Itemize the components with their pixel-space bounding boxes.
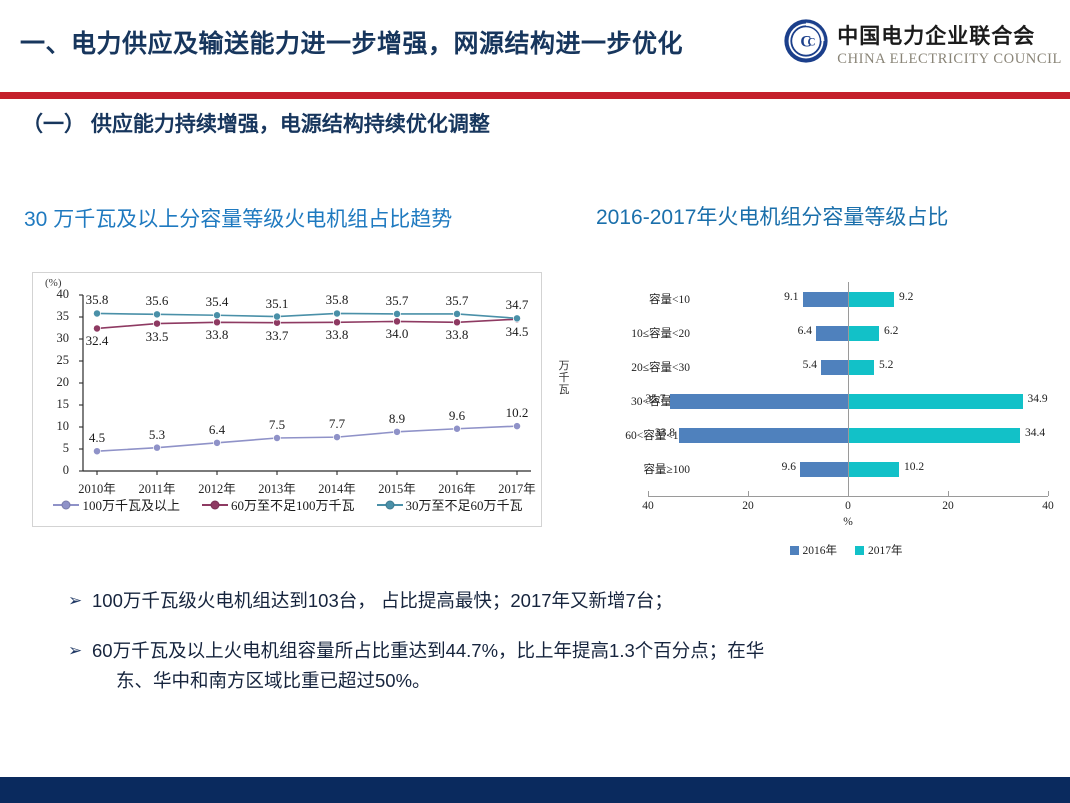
tornado-chart-row: 30<容量<6035.734.9 (556, 390, 1066, 413)
tornado-bar-2016 (679, 428, 848, 443)
bullet-text-line1: 60万千瓦及以上火电机组容量所占比重达到44.7%，比上年提高1.3个百分点；在… (92, 640, 764, 661)
line-chart-data-label: 35.1 (256, 296, 298, 312)
line-chart-legend-label: 30万至不足60万千瓦 (406, 495, 523, 514)
tornado-bar-2017 (848, 394, 1023, 409)
line-chart-legend-label: 100万千瓦及以上 (82, 495, 180, 514)
tornado-x-tick-label: 0 (828, 500, 868, 512)
line-chart-legend-item[interactable]: 30万至不足60万千瓦 (377, 495, 523, 514)
logo-chinese-name: 中国电力企业联合会 (837, 20, 1062, 50)
line-chart-data-label: 35.4 (196, 294, 238, 310)
capacity-share-trend-line-chart: (%) 05101520253035402010年2011年2012年2013年… (32, 272, 542, 527)
line-chart-data-label: 34.0 (376, 326, 418, 342)
left-chart-caption: 30 万千瓦及以上分容量等级火电机组占比趋势 (24, 203, 452, 233)
line-chart-data-label: 34.5 (496, 324, 538, 340)
tornado-value-2017: 10.2 (904, 461, 924, 473)
tornado-x-tick-mark (1048, 491, 1049, 496)
bullet-item: ➢100万千瓦级火电机组达到103台， 占比提高最快；2017年又新增7台； (68, 586, 1028, 616)
tornado-bar-2016 (800, 462, 848, 477)
tornado-x-tick-label: 20 (728, 500, 768, 512)
section-subheading: （一） 供应能力持续增强，电源结构持续优化调整 (22, 108, 490, 138)
line-chart-y-tick: 30 (43, 331, 69, 346)
line-chart-data-label: 34.7 (496, 297, 538, 313)
tornado-x-tick-label: 40 (1028, 500, 1068, 512)
line-chart-legend-label: 60万至不足100万千瓦 (231, 495, 355, 514)
legend-color-swatch-icon (855, 546, 864, 555)
tornado-bar-2017 (848, 360, 874, 375)
organization-logo: C C 中国电力企业联合会 CHINA ELECTRICITY COUNCIL (783, 18, 1062, 68)
tornado-x-tick-mark (848, 491, 849, 496)
tornado-chart-row: 容量<109.19.2 (556, 288, 1066, 311)
line-chart-data-label: 35.8 (76, 292, 118, 308)
tornado-bar-2017 (848, 428, 1020, 443)
tornado-value-2017: 9.2 (899, 291, 913, 303)
line-chart-legend-item[interactable]: 60万至不足100万千瓦 (202, 495, 355, 514)
bullet-list: ➢100万千瓦级火电机组达到103台， 占比提高最快；2017年又新增7台；➢6… (68, 586, 1028, 716)
line-chart-y-tick: 25 (43, 353, 69, 368)
tornado-bar-2017 (848, 292, 894, 307)
line-chart-y-tick: 5 (43, 441, 69, 456)
tornado-category-label: 20≤容量<30 (570, 359, 690, 375)
tornado-value-2016: 35.7 (622, 393, 666, 405)
bullet-text: 60万千瓦及以上火电机组容量所占比重达到44.7%，比上年提高1.3个百分点；在… (92, 636, 764, 696)
line-chart-data-label: 35.7 (376, 293, 418, 309)
tornado-legend-item[interactable]: 2016年 (790, 542, 838, 558)
tornado-x-tick-mark (948, 491, 949, 496)
line-chart-y-tick: 40 (43, 287, 69, 302)
tornado-x-tick-mark (748, 491, 749, 496)
tornado-legend-label: 2017年 (868, 542, 903, 558)
bullet-item: ➢60万千瓦及以上火电机组容量所占比重达到44.7%，比上年提高1.3个百分点；… (68, 636, 1028, 696)
line-chart-data-label: 10.2 (496, 405, 538, 421)
line-chart-y-tick: 0 (43, 463, 69, 478)
line-chart-y-tick: 10 (43, 419, 69, 434)
tornado-chart-row: 60<容量<10033.834.4 (556, 424, 1066, 447)
line-chart-data-label: 33.8 (316, 327, 358, 343)
line-chart-legend-item[interactable]: 100万千瓦及以上 (53, 495, 180, 514)
tornado-bar-2016 (803, 292, 849, 307)
line-chart-y-tick: 20 (43, 375, 69, 390)
line-chart-data-label: 33.7 (256, 328, 298, 344)
tornado-x-axis (648, 496, 1048, 497)
line-chart-data-label: 7.7 (316, 416, 358, 432)
capacity-grade-tornado-chart: 万千瓦 容量<109.19.210≤容量<206.46.220≤容量<305.4… (556, 278, 1066, 568)
line-chart-data-label: 33.8 (196, 327, 238, 343)
line-chart-y-tick: 35 (43, 309, 69, 324)
tornado-x-tick-mark (648, 491, 649, 496)
tornado-legend-label: 2016年 (803, 542, 838, 558)
bullet-text-line1: 100万千瓦级火电机组达到103台， 占比提高最快；2017年又新增7台； (92, 590, 673, 611)
tornado-bar-2016 (821, 360, 848, 375)
tornado-zero-line (848, 282, 849, 496)
tornado-category-label: 10≤容量<20 (570, 325, 690, 341)
tornado-category-label: 容量<10 (570, 291, 690, 307)
bullet-text-line2: 东、华中和南方区域比重已超过50%。 (116, 666, 764, 696)
line-chart-data-label: 35.6 (136, 293, 178, 309)
tornado-bar-2016 (670, 394, 849, 409)
tornado-value-2017: 6.2 (884, 325, 898, 337)
bullet-arrow-icon: ➢ (68, 636, 92, 666)
tornado-x-tick-label: 20 (928, 500, 968, 512)
legend-color-swatch-icon (790, 546, 799, 555)
legend-line-marker-icon (377, 504, 403, 506)
tornado-chart-row: 容量≥1009.610.2 (556, 458, 1066, 481)
line-chart-data-label: 32.4 (76, 333, 118, 349)
bullet-text: 100万千瓦级火电机组达到103台， 占比提高最快；2017年又新增7台； (92, 586, 673, 616)
line-chart-data-label: 33.5 (136, 329, 178, 345)
tornado-x-tick-label: 40 (628, 500, 668, 512)
tornado-chart-legend: 2016年2017年 (656, 542, 1036, 558)
line-chart-data-label: 35.7 (436, 293, 478, 309)
bullet-arrow-icon: ➢ (68, 586, 92, 616)
tornado-value-2017: 34.9 (1028, 393, 1048, 405)
cec-seal-icon: C C (783, 18, 829, 64)
tornado-value-2016: 9.6 (752, 461, 796, 473)
logo-english-name: CHINA ELECTRICITY COUNCIL (837, 51, 1062, 68)
tornado-value-2016: 5.4 (773, 359, 817, 371)
line-chart-data-label: 9.6 (436, 408, 478, 424)
line-chart-data-label: 5.3 (136, 427, 178, 443)
line-chart-data-label: 35.8 (316, 292, 358, 308)
slide-canvas: 一、电力供应及输送能力进一步增强，网源结构进一步优化 C C 中国电力企业联合会… (0, 0, 1070, 803)
tornado-value-2017: 34.4 (1025, 427, 1045, 439)
right-chart-caption: 2016-2017年火电机组分容量等级占比 (596, 201, 948, 231)
header-divider (0, 92, 1070, 99)
tornado-bar-2017 (848, 326, 879, 341)
tornado-value-2016: 33.8 (631, 427, 675, 439)
tornado-category-label: 容量≥100 (570, 461, 690, 477)
tornado-chart-row: 20≤容量<305.45.2 (556, 356, 1066, 379)
tornado-chart-row: 10≤容量<206.46.2 (556, 322, 1066, 345)
line-chart-data-label: 33.8 (436, 327, 478, 343)
tornado-x-axis-unit: % (828, 516, 868, 528)
tornado-bar-2017 (848, 462, 899, 477)
tornado-value-2017: 5.2 (879, 359, 893, 371)
svg-text:C: C (808, 37, 816, 49)
legend-line-marker-icon (202, 504, 228, 506)
line-chart-data-label: 6.4 (196, 422, 238, 438)
tornado-bar-2016 (816, 326, 848, 341)
line-chart-legend: 100万千瓦及以上60万至不足100万千瓦30万至不足60万千瓦 (33, 495, 543, 514)
legend-line-marker-icon (53, 504, 79, 506)
line-chart-y-tick: 15 (43, 397, 69, 412)
line-chart-data-label: 8.9 (376, 411, 418, 427)
page-title: 一、电力供应及输送能力进一步增强，网源结构进一步优化 (20, 24, 683, 60)
tornado-value-2016: 9.1 (755, 291, 799, 303)
footer-bar (0, 777, 1070, 803)
tornado-value-2016: 6.4 (768, 325, 812, 337)
line-chart-data-label: 4.5 (76, 430, 118, 446)
tornado-legend-item[interactable]: 2017年 (855, 542, 903, 558)
line-chart-data-label: 7.5 (256, 417, 298, 433)
